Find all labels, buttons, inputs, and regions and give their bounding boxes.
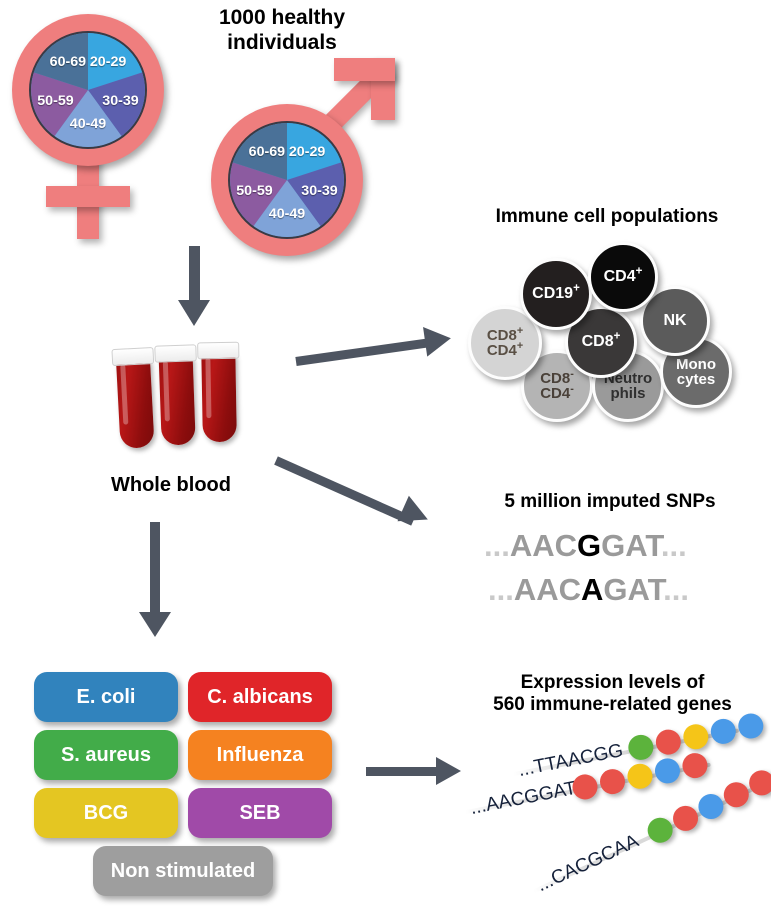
arrow-head (436, 757, 461, 785)
immune-cell-label: CD4+ (604, 269, 643, 285)
snp-sequence-row: ...AACAGAT... (488, 572, 689, 608)
arrow-shaft (366, 767, 438, 776)
whole-blood-label: Whole blood (86, 474, 256, 498)
dna-strand: ...CACGCAA (526, 707, 771, 905)
gene-expression-dot (680, 751, 709, 780)
snp-leading-ellipsis: ... (484, 528, 510, 563)
snp-leading-ellipsis: ... (488, 572, 514, 607)
gene-expression-dot (709, 717, 738, 746)
gene-expression-dot (570, 772, 599, 801)
snp-flank-right: GAT (603, 572, 663, 607)
arrow-shaft (150, 522, 160, 616)
snp-trailing-ellipsis: ... (663, 572, 689, 607)
dna-strand-sequence: ...AACGGAT (469, 778, 579, 820)
snp-flank-right: GAT (601, 528, 661, 563)
dna-strand-line (513, 728, 740, 776)
stimulus-pill-e-coli[interactable]: E. coli (34, 672, 178, 722)
immune-cell-cd19[interactable]: CD19+ (520, 258, 592, 330)
immune-cell-cluster: CD19+CD4+CD8+CD4+CD8+NKCD8-CD4-Neutrophi… (0, 0, 771, 440)
stimulus-pill-s-aureus[interactable]: S. aureus (34, 730, 178, 780)
gene-expression-dot (625, 762, 654, 791)
gene-expression-dot (681, 722, 710, 751)
snp-variant-base: G (577, 528, 601, 563)
snp-variant-base: A (581, 572, 603, 607)
stimulus-pill-seb[interactable]: SEB (188, 788, 332, 838)
dna-strand-line (465, 763, 711, 815)
expression-title-line2: 560 immune-related genes (460, 694, 765, 716)
stimulus-label: S. aureus (61, 744, 151, 767)
snp-flank-left: AAC (510, 528, 577, 563)
snp-flank-left: AAC (514, 572, 581, 607)
dna-strand-sequence: ...TTAACGG (517, 740, 626, 782)
gene-expression-dot (694, 790, 727, 823)
stimulus-pill-c-albicans[interactable]: C. albicans (188, 672, 332, 722)
expression-title-line1: Expression levels of (460, 672, 765, 694)
snp-trailing-ellipsis: ... (661, 528, 687, 563)
immune-cell-cd4[interactable]: CD4+ (588, 242, 658, 312)
gene-expression-dot (653, 756, 682, 785)
stimulus-label: SEB (239, 802, 280, 825)
stimuli-panel: E. coliC. albicansS. aureusInfluenzaBCGS… (34, 672, 344, 898)
stimulus-label: Influenza (217, 744, 304, 767)
stimulus-pill-influenza[interactable]: Influenza (188, 730, 332, 780)
snp-sequences: ...AACGGAT......AACAGAT... (484, 528, 754, 618)
gene-expression-dot (654, 727, 683, 756)
dna-strand-line (533, 784, 761, 893)
immune-cell-label: NK (663, 313, 686, 329)
gene-expression-dot (745, 766, 771, 799)
immune-cell-label: CD8+CD4+ (487, 328, 523, 359)
arrow-head (139, 612, 171, 637)
arrow-head (397, 496, 433, 533)
stimulus-label: C. albicans (207, 686, 313, 709)
expression-title: Expression levels of 560 immune-related … (460, 672, 765, 717)
immune-cell-label: CD8-CD4- (540, 371, 574, 402)
gene-expression-dot (644, 814, 677, 847)
snp-sequence-row: ...AACGGAT... (484, 528, 687, 564)
gene-expression-dot (626, 733, 655, 762)
immune-cell-label: CD19+ (532, 286, 580, 302)
stimulus-label: BCG (84, 802, 128, 825)
stimulus-pill-bcg[interactable]: BCG (34, 788, 178, 838)
stimulus-pill-non-stimulated[interactable]: Non stimulated (93, 846, 273, 896)
dna-strand-sequence: ...CACGCAA (534, 831, 643, 897)
immune-cell-label: CD8+ (582, 334, 621, 350)
gene-expression-dot (598, 767, 627, 796)
stimulus-label: E. coli (77, 686, 136, 709)
snps-title: 5 million imputed SNPs (460, 491, 760, 513)
immune-cell-label: Monocytes (676, 357, 716, 388)
dna-strand: ...AACGGAT (462, 718, 771, 827)
gene-expression-dot (669, 802, 702, 835)
arrow-shaft (274, 456, 415, 525)
stimulus-label: Non stimulated (111, 860, 255, 883)
gene-expression-dot (720, 778, 753, 811)
